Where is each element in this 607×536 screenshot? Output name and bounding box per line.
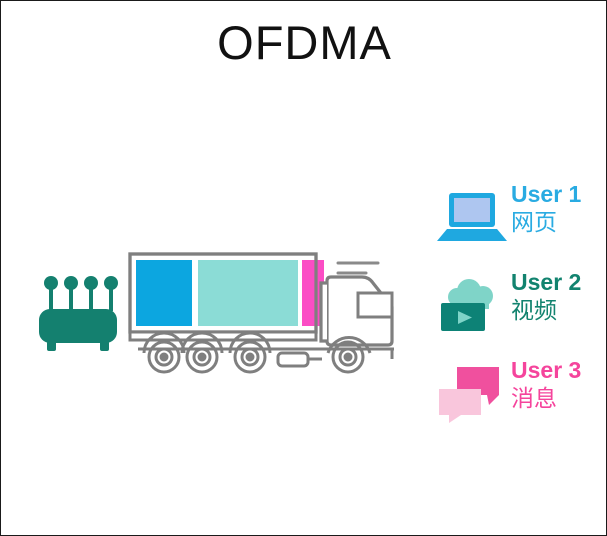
page-title: OFDMA: [1, 15, 607, 70]
legend-text-user-2: User 2 视频: [511, 271, 581, 322]
resource-block-user-2: [198, 260, 298, 326]
chat-bubbles-icon: [437, 363, 509, 425]
resource-block-user-1: [136, 260, 192, 326]
cab-bumper: [378, 349, 392, 359]
legend-item-user-2[interactable]: User 2 视频: [433, 271, 607, 359]
legend-traffic-label-1: 网页: [511, 211, 581, 234]
motion-lines: [338, 263, 378, 273]
truck-icon: [126, 249, 426, 379]
cab-wheel: [328, 338, 370, 372]
cab-back-panel: [321, 283, 327, 341]
fuel-tank: [278, 353, 308, 366]
legend-item-user-1[interactable]: User 1 网页: [433, 183, 607, 271]
legend-text-user-3: User 3 消息: [511, 359, 581, 410]
figure-canvas: OFDMA: [0, 0, 607, 536]
trailer-resource-blocks: [136, 260, 324, 326]
legend-user-label-3: User 3: [511, 359, 581, 382]
user-legend: User 1 网页 User 2 视频: [433, 183, 607, 447]
legend-text-user-1: User 1 网页: [511, 183, 581, 234]
chat-bubble-back: [439, 389, 481, 423]
laptop-icon: [437, 187, 509, 249]
legend-traffic-label-3: 消息: [511, 387, 581, 410]
cloud-video-icon: [437, 275, 509, 337]
legend-item-user-3[interactable]: User 3 消息: [433, 359, 607, 447]
legend-user-label-2: User 2: [511, 271, 581, 294]
legend-traffic-label-2: 视频: [511, 299, 581, 322]
cab-window: [358, 293, 392, 317]
legend-user-label-1: User 1: [511, 183, 581, 206]
router-icon: [21, 251, 141, 381]
